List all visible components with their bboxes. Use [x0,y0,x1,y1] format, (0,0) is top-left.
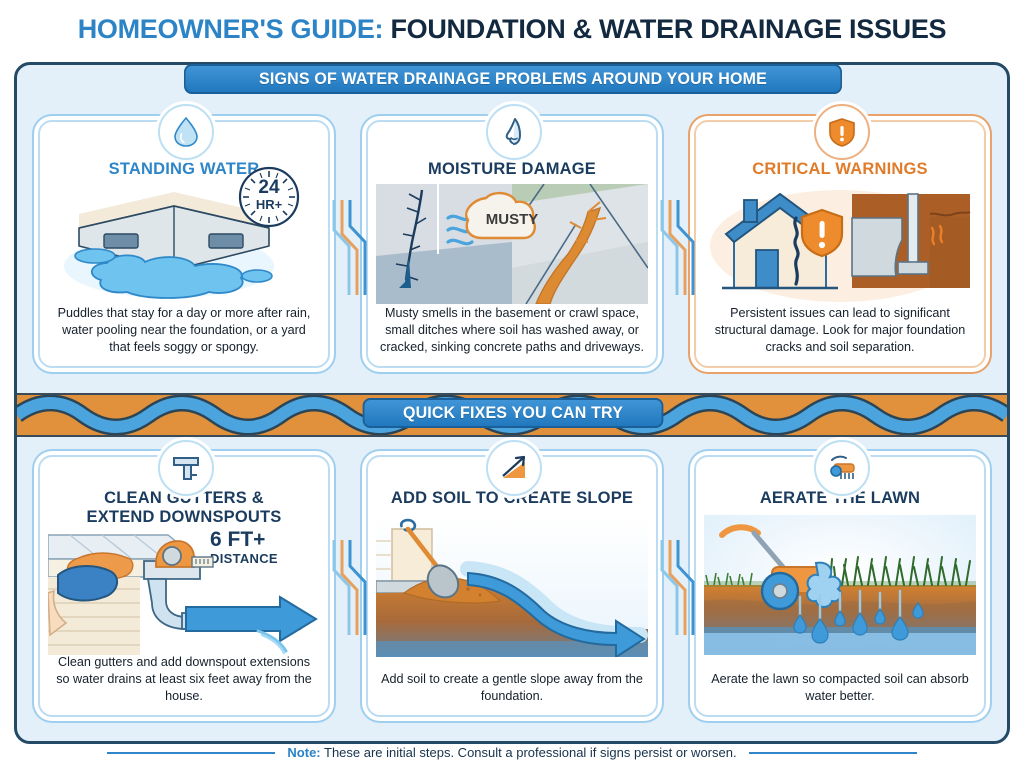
footer-rule-left [107,752,275,754]
card-desc-moisture-damage: Musty smells in the basement or crawl sp… [380,305,644,356]
gutter-glyph [171,453,201,483]
card-title-moisture-damage: MOISTURE DAMAGE [378,160,646,179]
warning-shield-icon [814,104,870,160]
page-title: HOMEOWNER'S GUIDE: FOUNDATION & WATER DR… [0,14,1024,45]
tape-measure-icon [152,535,214,575]
critical-warnings-illustration [696,184,984,304]
nose-smell-icon [486,104,542,160]
water-drop-icon [158,104,214,160]
moisture-damage-illustration: MUSTY [368,184,656,304]
add-soil-graphic [376,517,648,657]
distance-callout: 6 FT+ DISTANCE [210,529,330,566]
card-desc-aerate-lawn: Aerate the lawn so compacted soil can ab… [708,671,972,705]
slope-glyph [499,454,529,482]
section-banner-fixes: QUICK FIXES YOU CAN TRY [363,398,664,428]
page-title-part2: FOUNDATION & WATER DRAINAGE ISSUES [383,14,946,44]
nose-glyph [500,117,528,147]
card-desc-standing-water: Puddles that stay for a day or more afte… [52,305,316,356]
musty-callout-text: MUSTY [486,211,539,228]
lawn-aerator-icon [814,440,870,496]
card-desc-clean-gutters: Clean gutters and add downspout extensio… [52,654,316,705]
aerate-lawn-graphic [704,515,976,655]
card-desc-critical-warnings: Persistent issues can lead to significan… [708,305,972,356]
card-connector-1 [326,200,372,295]
footer-note-body: These are initial steps. Consult a profe… [321,745,737,760]
infographic-page: HOMEOWNER'S GUIDE: FOUNDATION & WATER DR… [0,0,1024,765]
critical-warnings-graphic [704,184,976,304]
duration-badge: 24 HR+ [238,166,300,228]
gutter-icon [158,440,214,496]
footer-note-text: Note: These are initial steps. Consult a… [287,745,736,760]
footer-rule-right [749,752,917,754]
card-title-critical-warnings: CRITICAL WARNINGS [706,160,974,179]
card-title-line2: EXTEND DOWNSPOUTS [87,508,282,526]
aerator-glyph [826,454,858,482]
page-title-part1: HOMEOWNER'S GUIDE: [78,14,384,44]
footer-note: Note: These are initial steps. Consult a… [0,740,1024,765]
slope-arrow-icon [486,440,542,496]
aerate-lawn-illustration [696,515,984,655]
duration-badge-unit: HR+ [238,198,300,211]
shield-glyph [828,117,856,147]
card-connector-4 [654,540,700,635]
footer-note-label: Note: [287,745,320,760]
distance-label: DISTANCE [210,551,330,566]
water-drop-glyph [173,117,199,147]
distance-value: 6 FT+ [210,529,330,551]
card-connector-2 [654,200,700,295]
card-connector-3 [326,540,372,635]
moisture-damage-graphic: MUSTY [376,184,648,304]
duration-badge-value: 24 [238,178,300,197]
add-soil-illustration [368,517,656,657]
card-desc-add-soil: Add soil to create a gentle slope away f… [380,671,644,705]
section-banner-signs: SIGNS OF WATER DRAINAGE PROBLEMS AROUND … [184,64,842,94]
